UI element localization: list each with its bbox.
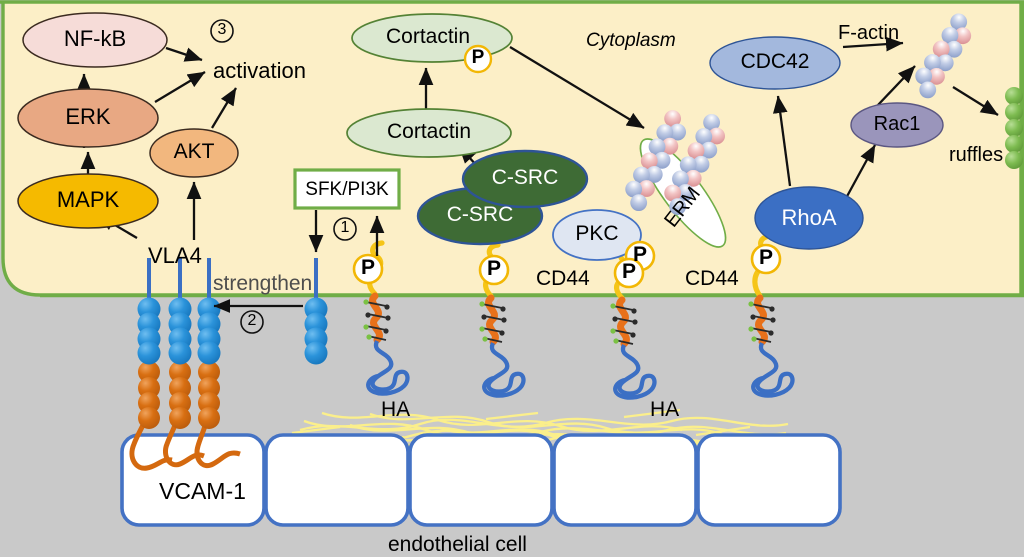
endothelial-cell <box>410 435 552 525</box>
strengthen-label: strengthen <box>213 272 312 296</box>
cytoplasm-label: Cytoplasm <box>586 30 676 52</box>
f-actin-label: F-actin <box>838 22 899 45</box>
p-badge-label: P <box>756 246 776 270</box>
endothelial-cell <box>266 435 408 525</box>
cd44-label-right: CD44 <box>685 267 739 291</box>
node-label-mapk: MAPK <box>18 187 158 213</box>
node-label-csrc-lower: C-SRC <box>418 203 542 227</box>
endothelial-cell <box>698 435 840 525</box>
p-badge-label: P <box>619 260 639 284</box>
ha-label-right: HA <box>650 398 679 422</box>
node-label-cortactin: Cortactin <box>347 120 511 144</box>
activation-label: activation <box>213 58 306 84</box>
ha-label-left: HA <box>381 398 410 422</box>
step-marker-label-1: 1 <box>335 219 355 237</box>
cd44-label-middle: CD44 <box>536 267 590 291</box>
node-label-nfkb: NF-kB <box>23 26 167 52</box>
diagram-svg <box>0 0 1024 557</box>
node-label-akt: AKT <box>150 140 238 164</box>
diagram-canvas: NF-kB ERK MAPK AKT Cortactin Cortactin C… <box>0 0 1024 557</box>
endothelial-cell <box>554 435 696 525</box>
endothelial-cell-label: endothelial cell <box>388 533 527 557</box>
node-label-rhoa: RhoA <box>755 205 863 231</box>
node-label-cdc42: CDC42 <box>710 50 840 74</box>
vla4-label: VLA4 <box>148 243 202 269</box>
node-label-erk: ERK <box>18 104 158 130</box>
step-marker-label-3: 3 <box>212 21 232 39</box>
node-label-rac1: Rac1 <box>851 113 943 136</box>
p-badge-label: P <box>358 256 378 280</box>
node-label-csrc-upper: C-SRC <box>463 166 587 190</box>
step-marker-label-2: 2 <box>242 312 262 330</box>
node-label-sfk-pi3k: SFK/PI3K <box>295 179 399 201</box>
vcam1-label: VCAM-1 <box>159 478 246 505</box>
node-label-pkc: PKC <box>553 222 641 246</box>
p-badge-label: P <box>484 257 504 281</box>
node-label-cortactin-phospho: Cortactin <box>348 25 508 49</box>
p-badge-label: P <box>468 47 488 69</box>
membrane-ruffles <box>1005 87 1023 169</box>
ruffles-label: ruffles <box>949 144 1003 167</box>
